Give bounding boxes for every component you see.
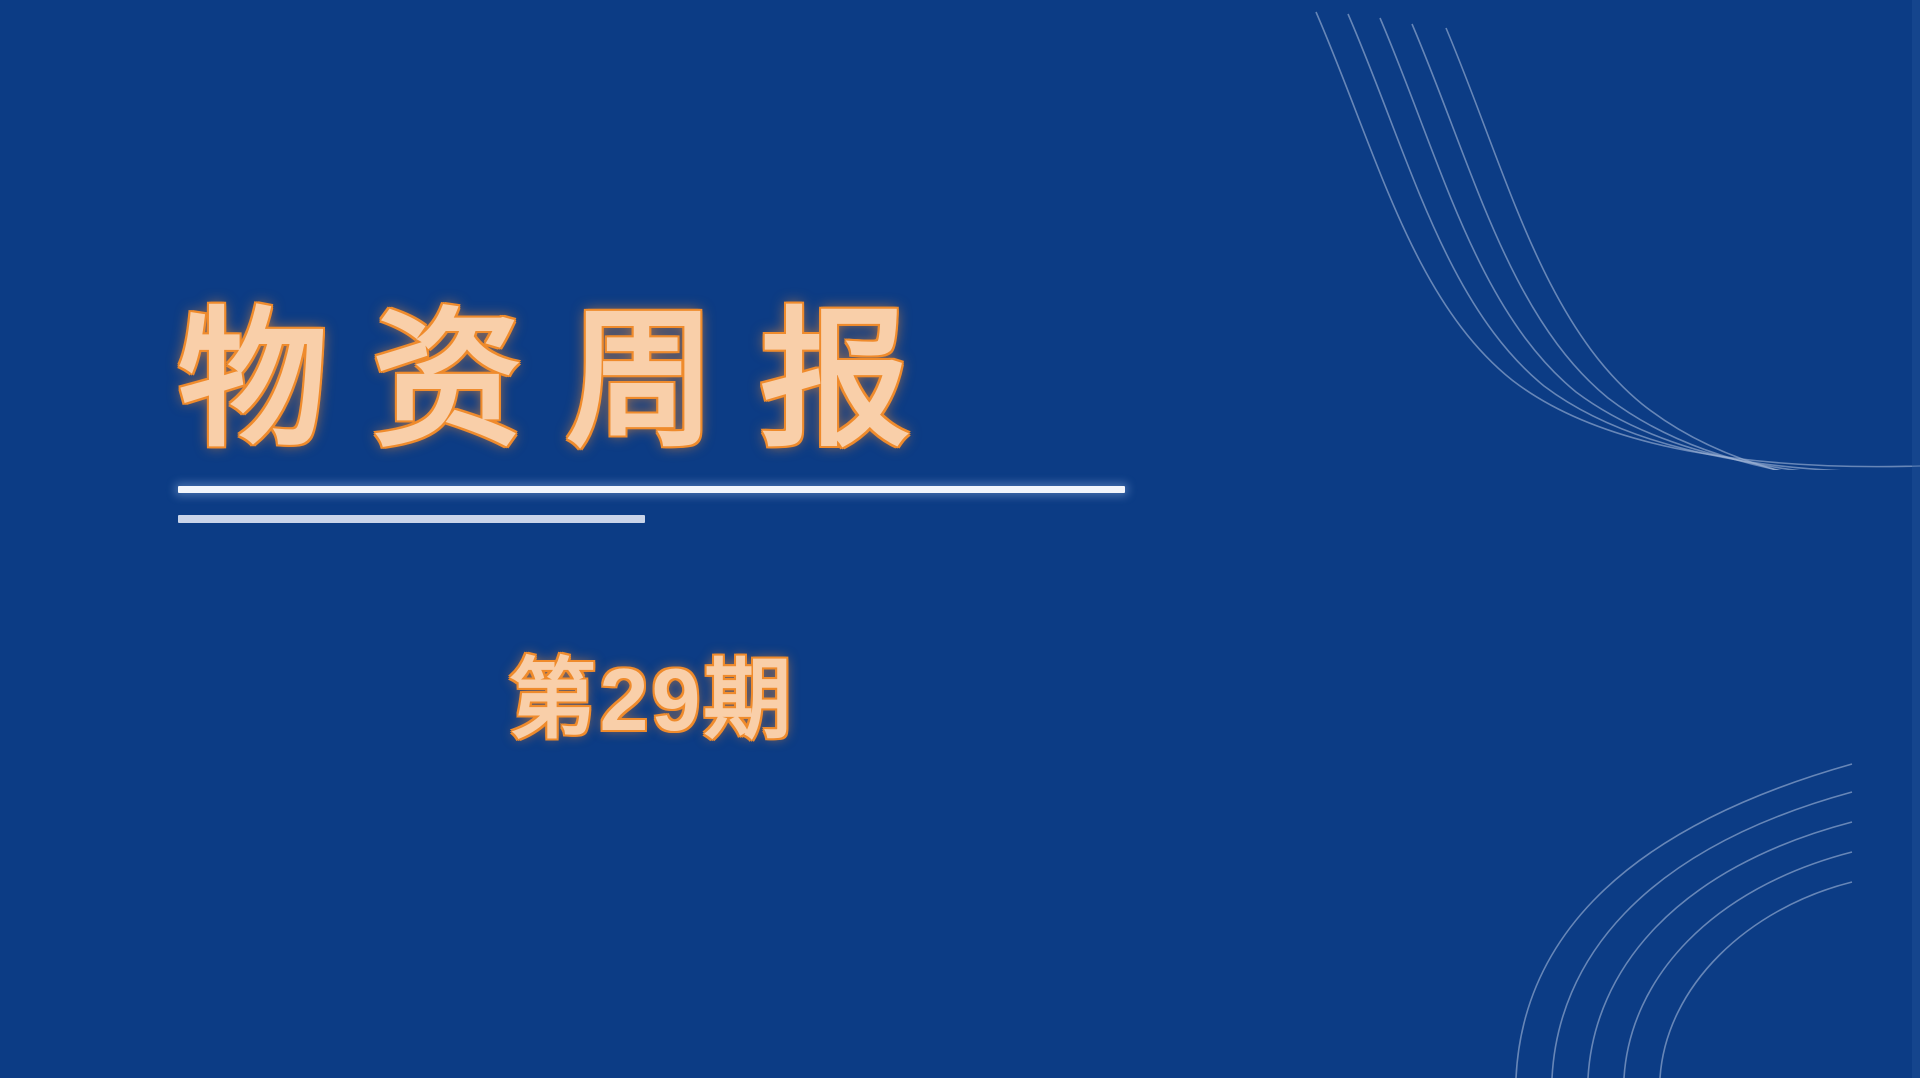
subtitle-block: 第29期 bbox=[178, 648, 1125, 752]
divider-line-secondary bbox=[178, 515, 645, 523]
arc-lines-icon bbox=[1500, 718, 1920, 1078]
divider-line-primary bbox=[178, 486, 1125, 493]
right-edge-strip bbox=[1912, 0, 1920, 1078]
wave-lines-icon bbox=[1280, 0, 1920, 470]
slide-canvas: 物资周报 第29期 bbox=[0, 0, 1920, 1078]
title-rules bbox=[178, 486, 1178, 523]
issue-number: 第29期 bbox=[509, 648, 795, 752]
arc-decoration-bottom-right bbox=[1500, 718, 1920, 1078]
wave-decoration-top-right bbox=[1280, 0, 1920, 470]
page-title: 物资周报 bbox=[178, 296, 1178, 464]
title-block: 物资周报 bbox=[178, 296, 1178, 523]
